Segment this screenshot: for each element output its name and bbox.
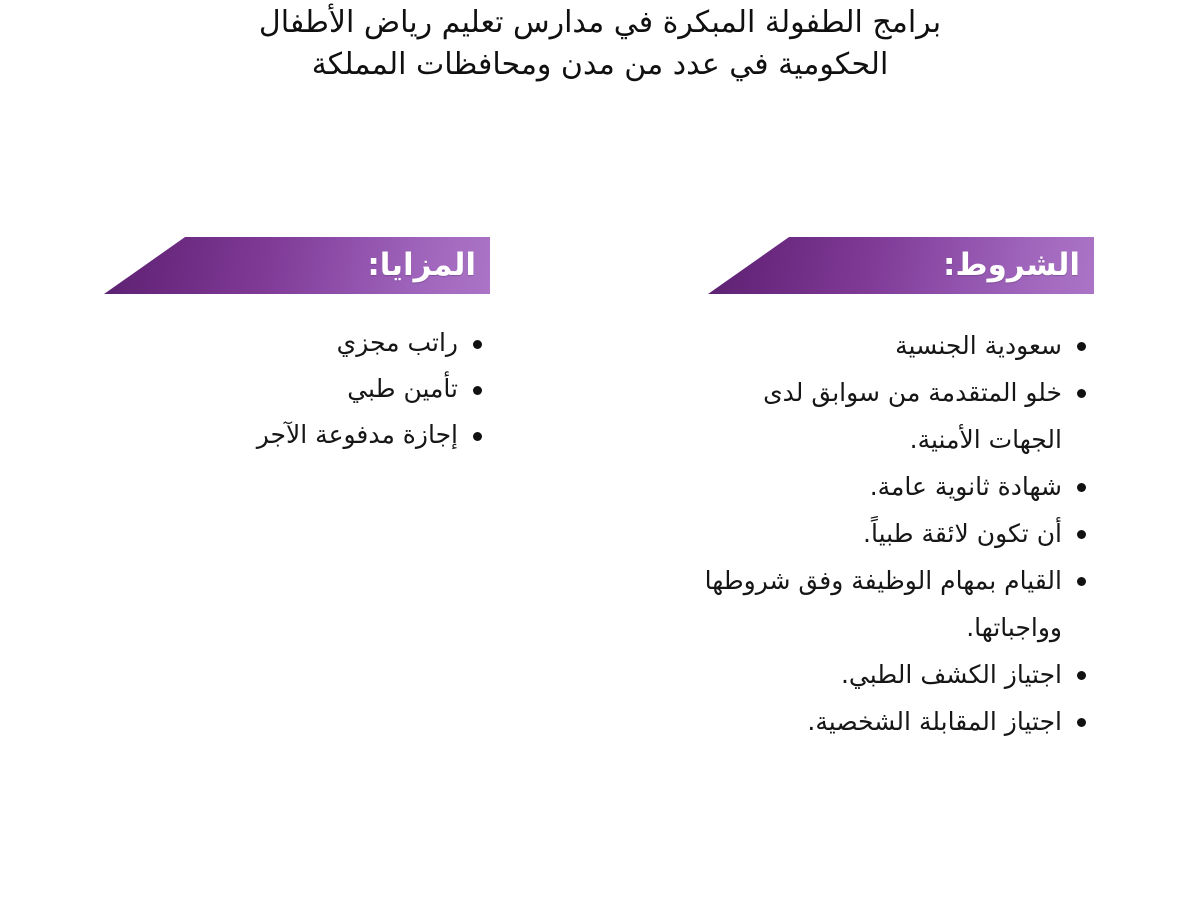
list-item: اجتياز الكشف الطبي. <box>694 651 1094 698</box>
conditions-list: سعودية الجنسية خلو المتقدمة من سوابق لدى… <box>694 322 1094 745</box>
conditions-heading-banner: الشروط: <box>708 237 1094 294</box>
section-conditions: الشروط: سعودية الجنسية خلو المتقدمة من س… <box>694 237 1094 745</box>
list-item: اجتياز المقابلة الشخصية. <box>694 698 1094 745</box>
list-item: أن تكون لائقة طبياً. <box>694 510 1094 557</box>
list-item: راتب مجزي <box>90 320 490 366</box>
list-item: شهادة ثانوية عامة. <box>694 463 1094 510</box>
page-title-line-1: برامج الطفولة المبكرة في مدارس تعليم ريا… <box>120 2 1080 44</box>
list-item: تأمين طبي <box>90 366 490 412</box>
benefits-list: راتب مجزي تأمين طبي إجازة مدفوعة الآجر <box>90 320 490 458</box>
page-title-line-2: الحكومية في عدد من مدن ومحافظات المملكة <box>120 44 1080 86</box>
conditions-heading-label: الشروط: <box>943 250 1080 281</box>
section-benefits: المزايا: راتب مجزي تأمين طبي إجازة مدفوع… <box>90 237 490 458</box>
list-item: القيام بمهام الوظيفة وفق شروطها وواجباته… <box>694 557 1094 651</box>
content-columns: الشروط: سعودية الجنسية خلو المتقدمة من س… <box>0 237 1200 797</box>
benefits-heading-banner: المزايا: <box>104 237 490 294</box>
page-title: برامج الطفولة المبكرة في مدارس تعليم ريا… <box>120 2 1080 86</box>
benefits-heading-label: المزايا: <box>367 250 476 281</box>
poster-canvas: برامج الطفولة المبكرة في مدارس تعليم ريا… <box>0 0 1200 900</box>
list-item: خلو المتقدمة من سوابق لدى الجهات الأمنية… <box>694 369 1094 463</box>
list-item: إجازة مدفوعة الآجر <box>90 412 490 458</box>
list-item: سعودية الجنسية <box>694 322 1094 369</box>
